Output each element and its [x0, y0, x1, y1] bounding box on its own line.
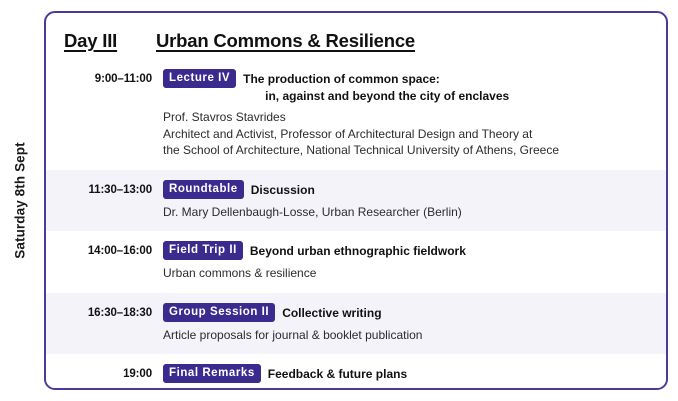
- row-headline: The production of common space: in, agai…: [243, 69, 509, 104]
- row-headline: Beyond urban ethnographic fieldwork: [250, 241, 466, 260]
- table-row[interactable]: 14:00–16:00 Field Trip II Beyond urban e…: [46, 231, 666, 293]
- row-detail-line3: the School of Architecture, National Tec…: [163, 142, 654, 159]
- row-time: 19:00: [62, 364, 152, 382]
- table-row[interactable]: 16:30–18:30 Group Session II Collective …: [46, 293, 666, 355]
- row-headline-line1: Feedback & future plans: [268, 367, 407, 381]
- row-time: 9:00–11:00: [62, 69, 152, 87]
- row-headline-line1: Beyond urban ethnographic fieldwork: [250, 244, 466, 258]
- schedule-header: Day III Urban Commons & Resilience: [46, 13, 666, 59]
- status-badge[interactable]: Roundtable: [163, 180, 244, 199]
- row-body: Group Session II Collective writing Arti…: [163, 303, 666, 344]
- status-badge[interactable]: Group Session II: [163, 303, 275, 322]
- row-body: Field Trip II Beyond urban ethnographic …: [163, 241, 666, 282]
- status-badge[interactable]: Lecture IV: [163, 69, 236, 88]
- row-headline: Feedback & future plans: [268, 364, 407, 383]
- row-detail: Prof. Stavros Stavrides Architect and Ac…: [163, 109, 654, 159]
- day-label: Saturday 8th Sept: [13, 142, 28, 258]
- row-headline-line1: The production of common space:: [243, 72, 440, 86]
- row-title-line: Lecture IV The production of common spac…: [163, 69, 654, 104]
- status-badge[interactable]: Field Trip II: [163, 241, 243, 260]
- row-body: Roundtable Discussion Dr. Mary Dellenbau…: [163, 180, 666, 221]
- row-detail: Dr. Mary Dellenbaugh-Losse, Urban Resear…: [163, 204, 654, 221]
- header-day: Day III: [64, 30, 148, 52]
- schedule-card: Day III Urban Commons & Resilience 9:00–…: [44, 11, 668, 390]
- row-headline-line2: in, against and beyond the city of encla…: [243, 88, 509, 105]
- row-time: 16:30–18:30: [62, 303, 152, 321]
- row-title-line: Final Remarks Feedback & future plans: [163, 364, 654, 383]
- day-rail: Saturday 8th Sept: [0, 0, 40, 401]
- row-detail: Urban commons & resilience: [163, 265, 654, 282]
- row-detail-line2: Architect and Activist, Professor of Arc…: [163, 126, 654, 143]
- row-headline-line1: Collective writing: [282, 306, 381, 320]
- status-badge[interactable]: Final Remarks: [163, 364, 261, 383]
- schedule-card-inner: Day III Urban Commons & Resilience 9:00–…: [46, 13, 666, 388]
- schedule-page: Saturday 8th Sept Day III Urban Commons …: [0, 0, 678, 401]
- row-time: 11:30–13:00: [62, 180, 152, 198]
- row-detail: Article proposals for journal & booklet …: [163, 327, 654, 344]
- table-row[interactable]: 9:00–11:00 Lecture IV The production of …: [46, 59, 666, 170]
- row-detail-line1: Prof. Stavros Stavrides: [163, 109, 654, 126]
- row-title-line: Group Session II Collective writing: [163, 303, 654, 322]
- row-headline: Collective writing: [282, 303, 381, 322]
- row-title-line: Field Trip II Beyond urban ethnographic …: [163, 241, 654, 260]
- row-detail-line1: Article proposals for journal & booklet …: [163, 327, 654, 344]
- row-title-line: Roundtable Discussion: [163, 180, 654, 199]
- page-title: Urban Commons & Resilience: [156, 30, 415, 52]
- table-row[interactable]: 11:30–13:00 Roundtable Discussion Dr. Ma…: [46, 170, 666, 232]
- table-row[interactable]: 19:00 Final Remarks Feedback & future pl…: [46, 354, 666, 390]
- row-detail-line1: Dr. Mary Dellenbaugh-Losse, Urban Resear…: [163, 204, 654, 221]
- schedule-rows: 9:00–11:00 Lecture IV The production of …: [46, 59, 666, 390]
- row-detail-line1: Urban commons & resilience: [163, 265, 654, 282]
- row-time: 14:00–16:00: [62, 241, 152, 259]
- row-body: Final Remarks Feedback & future plans: [163, 364, 666, 383]
- row-headline: Discussion: [251, 180, 315, 199]
- row-headline-line1: Discussion: [251, 183, 315, 197]
- row-body: Lecture IV The production of common spac…: [163, 69, 666, 159]
